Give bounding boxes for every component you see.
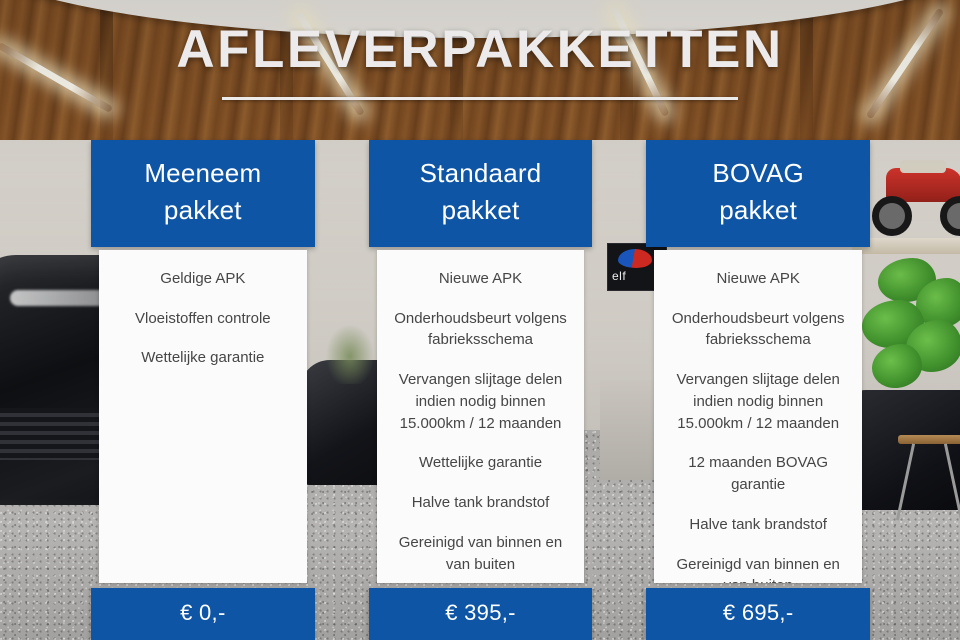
package-feature-list: Geldige APK Vloeistoffen controle Wettel… xyxy=(99,250,307,583)
package-name-line1: Standaard xyxy=(377,155,585,192)
package-price[interactable]: € 0,- xyxy=(91,588,315,640)
title-underline xyxy=(222,97,738,100)
package-name-line2: pakket xyxy=(654,192,862,229)
package-feature: Halve tank brandstof xyxy=(389,492,573,514)
package-feature: Onderhoudsbeurt volgens fabrieksschema xyxy=(389,308,573,352)
package-header: Standaard pakket xyxy=(369,140,593,247)
package-price[interactable]: € 395,- xyxy=(369,588,593,640)
package-feature: Vloeistoffen controle xyxy=(111,308,295,330)
delivery-packages-banner: elf AFLEVERPAKKETTEN Meeneem pakket xyxy=(0,0,960,640)
package-feature: Wettelijke garantie xyxy=(111,347,295,369)
package-feature: Geldige APK xyxy=(111,268,295,290)
package-name-line1: Meeneem xyxy=(99,155,307,192)
package-feature: Halve tank brandstof xyxy=(666,514,850,536)
package-card-bovag[interactable]: BOVAG pakket Nieuwe APK Onderhoudsbeurt … xyxy=(646,140,870,640)
package-card-list: Meeneem pakket Geldige APK Vloeistoffen … xyxy=(91,140,870,640)
package-price[interactable]: € 695,- xyxy=(646,588,870,640)
package-card-standaard[interactable]: Standaard pakket Nieuwe APK Onderhoudsbe… xyxy=(369,140,593,640)
package-feature: Gereinigd van binnen en van buiten xyxy=(666,554,850,583)
package-feature: Gereinigd van binnen en van buiten xyxy=(389,532,573,576)
package-feature: Wettelijke garantie xyxy=(389,452,573,474)
package-feature: Nieuwe APK xyxy=(389,268,573,290)
package-feature-list: Nieuwe APK Onderhoudsbeurt volgens fabri… xyxy=(377,250,585,583)
package-name-line1: BOVAG xyxy=(654,155,862,192)
package-feature: 12 maanden BOVAG garantie xyxy=(666,452,850,496)
page-title: AFLEVERPAKKETTEN xyxy=(176,22,783,77)
package-feature: Onderhoudsbeurt volgens fabrieksschema xyxy=(666,308,850,352)
package-feature: Vervangen slijtage delen indien nodig bi… xyxy=(389,369,573,434)
package-header: Meeneem pakket xyxy=(91,140,315,247)
package-name-line2: pakket xyxy=(377,192,585,229)
package-card-meeneem[interactable]: Meeneem pakket Geldige APK Vloeistoffen … xyxy=(91,140,315,640)
package-name-line2: pakket xyxy=(99,192,307,229)
package-feature: Vervangen slijtage delen indien nodig bi… xyxy=(666,369,850,434)
package-feature: Nieuwe APK xyxy=(666,268,850,290)
package-feature-list: Nieuwe APK Onderhoudsbeurt volgens fabri… xyxy=(654,250,862,583)
banner-title-block: AFLEVERPAKKETTEN xyxy=(0,22,960,100)
package-header: BOVAG pakket xyxy=(646,140,870,247)
